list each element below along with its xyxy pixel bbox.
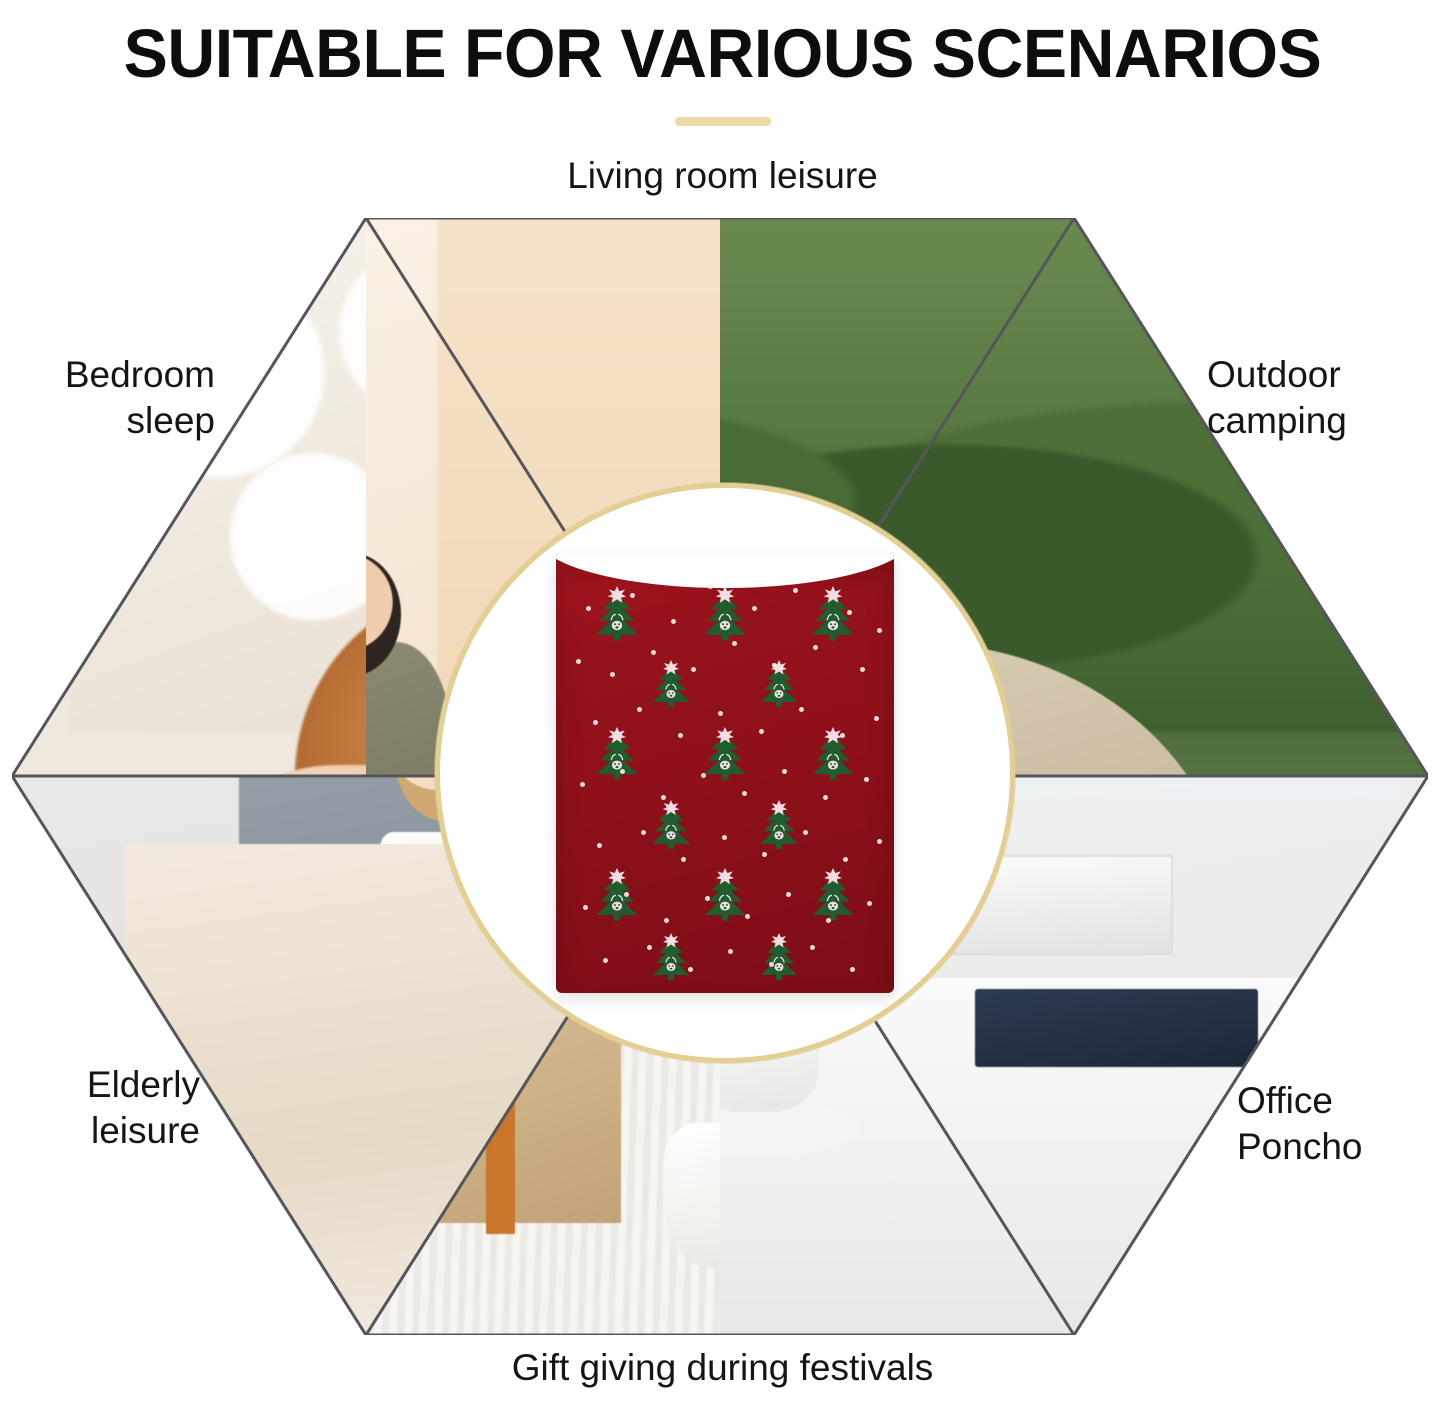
label-office-poncho: Office Poncho (1237, 1078, 1437, 1170)
snow-dot (705, 896, 710, 901)
label-living-room-leisure: Living room leisure (0, 153, 1445, 199)
snow-dot (688, 967, 693, 972)
christmas-tree-motif (648, 933, 694, 983)
snow-dot (718, 711, 723, 716)
snow-dot (847, 610, 852, 615)
product-circle-callout[interactable] (435, 483, 1015, 1063)
snow-dot (647, 945, 652, 950)
blanket-tree (647, 800, 695, 852)
snow-dot (860, 667, 865, 672)
christmas-tree-motif (591, 868, 643, 924)
christmas-tree-motif (806, 586, 859, 644)
snow-dot (793, 588, 798, 593)
blanket-tree (648, 933, 694, 983)
reindeer-head-motif (775, 963, 784, 971)
label-bedroom-sleep: Bedroom sleep (0, 352, 215, 444)
blanket-tree (591, 868, 643, 924)
reindeer-head-motif (828, 761, 838, 770)
snow-dot (877, 628, 882, 633)
snow-dot (576, 659, 581, 664)
reindeer-head-motif (720, 620, 730, 629)
reindeer-head-motif (720, 761, 730, 770)
snow-dot (681, 857, 686, 862)
snow-dot (664, 918, 669, 923)
snow-dot (678, 733, 683, 738)
christmas-tree-motif (699, 727, 751, 783)
snow-dot (874, 716, 879, 721)
reindeer-head-motif (828, 620, 838, 629)
reindeer-head-motif (775, 690, 784, 698)
snow-dot (691, 667, 696, 672)
snow-dot (843, 857, 848, 862)
snow-dot (752, 606, 757, 611)
label-outdoor-camping: Outdoor camping (1207, 352, 1437, 444)
reindeer-head-motif (666, 690, 675, 698)
snow-dot (864, 777, 869, 782)
snow-dot (782, 769, 787, 774)
snow-dot (671, 619, 676, 624)
label-gift-giving: Gift giving during festivals (0, 1345, 1445, 1391)
christmas-tree-motif (807, 868, 859, 924)
christmas-tree-motif (647, 800, 695, 852)
blanket-tree (591, 727, 643, 783)
snow-dot (867, 901, 872, 906)
blanket-tree (807, 868, 859, 924)
snow-dot (722, 835, 727, 840)
snow-dot (580, 782, 585, 787)
blanket-tree (698, 586, 751, 644)
blanket-tree (756, 933, 802, 983)
christmas-tree-motif (756, 933, 802, 983)
blanket-tree (648, 660, 694, 710)
snow-dot (651, 650, 656, 655)
blanket-tree (755, 800, 803, 852)
snow-dot (603, 958, 608, 963)
snow-dot (799, 707, 804, 712)
snow-dot (708, 584, 713, 589)
page-title: SUITABLE FOR VARIOUS SCENARIOS (29, 14, 1416, 93)
reindeer-head-motif (666, 831, 675, 839)
snow-dot (810, 945, 815, 950)
christmas-tree-motif (591, 727, 643, 783)
snow-dot (803, 830, 808, 835)
snow-dot (637, 707, 642, 712)
christmas-tree-motif (807, 727, 859, 783)
christmas-tree-motif (698, 586, 751, 644)
snow-dot (762, 852, 767, 857)
label-elderly-leisure: Elderly leisure (0, 1062, 200, 1154)
notebook-shape (975, 989, 1258, 1067)
snow-dot (610, 672, 615, 677)
snow-dot (850, 967, 855, 972)
christmas-tree-motif (755, 800, 803, 852)
snow-dot (823, 795, 828, 800)
christmas-tree-blanket (556, 553, 894, 993)
reindeer-head-motif (828, 902, 838, 911)
snow-dot (620, 769, 625, 774)
snow-dot (877, 839, 882, 844)
blanket-tree (807, 727, 859, 783)
snow-dot (742, 791, 747, 796)
snow-dot (593, 720, 598, 725)
reindeer-head-motif (612, 620, 622, 629)
reindeer-head-motif (774, 831, 783, 839)
christmas-tree-motif (648, 660, 694, 710)
snow-dot (786, 892, 791, 897)
snow-dot (624, 892, 629, 897)
christmas-tree-motif (590, 586, 643, 644)
snow-dot (661, 795, 666, 800)
snow-dot (641, 830, 646, 835)
blanket-tree (590, 586, 643, 644)
blanket-tree (806, 586, 859, 644)
reindeer-head-motif (666, 963, 675, 971)
snow-dot (583, 905, 588, 910)
snow-dot (728, 949, 733, 954)
snow-dot (759, 729, 764, 734)
reindeer-head-motif (612, 902, 622, 911)
snow-dot (732, 641, 737, 646)
snow-dot (597, 843, 602, 848)
snow-dot (813, 645, 818, 650)
christmas-tree-motif (756, 660, 802, 710)
blanket-tree (756, 660, 802, 710)
reindeer-head-motif (720, 902, 730, 911)
blanket-tree (699, 727, 751, 783)
title-divider (675, 117, 771, 126)
